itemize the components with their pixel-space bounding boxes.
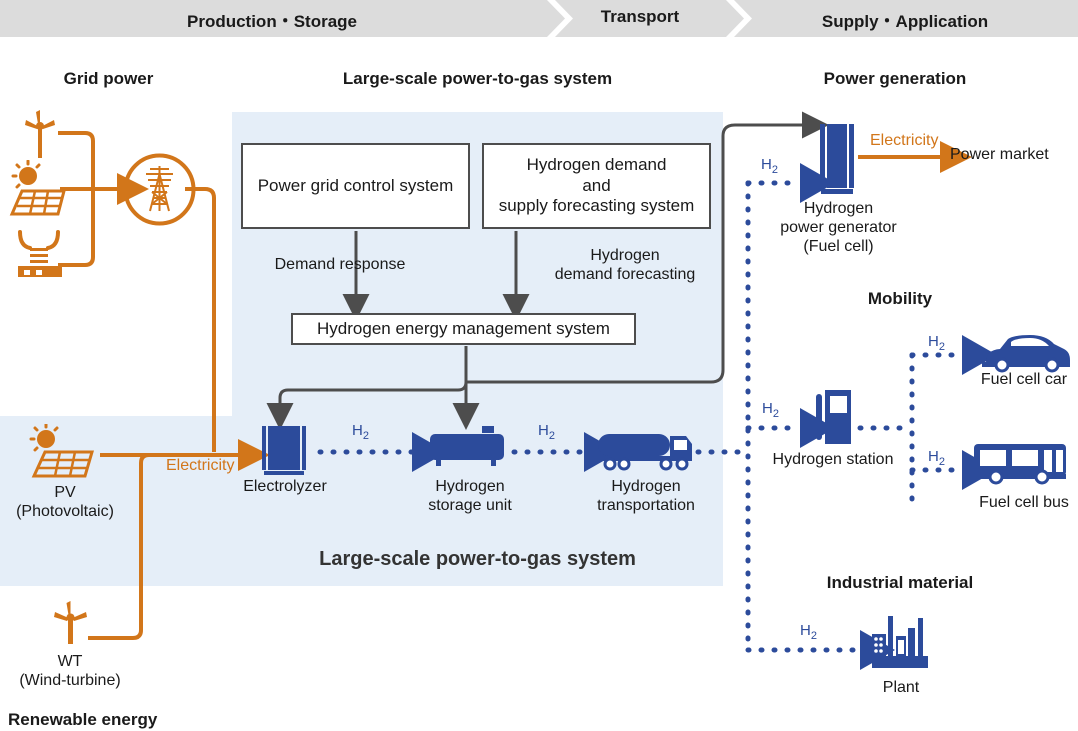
h2-label-plant: H2 — [800, 622, 817, 642]
panel-title-p2g: Large-scale power-to-gas system — [232, 548, 723, 571]
caption-electrolyzer: Electrolyzer — [215, 478, 355, 497]
edge-label-electricity-right: Electricity — [870, 132, 938, 150]
caption-wt-line-2: (Wind-turbine) — [0, 672, 140, 691]
caption-pv-line-2: (Photovoltaic) — [0, 503, 130, 522]
phase-bar: Production・Storage Transport Supply・Appl… — [0, 0, 1078, 37]
phase-label-supply-application: Supply・Application — [790, 7, 1020, 32]
wind-turbine-icon — [16, 108, 64, 165]
caption-wt: WT (Wind-turbine) — [0, 653, 140, 691]
bus-icon — [972, 440, 1072, 493]
caption-wt-line-1: WT — [0, 653, 140, 672]
edge-label-hydrogen-demand-forecasting: Hydrogen demand forecasting — [525, 247, 725, 285]
fuel-dispenser-icon — [814, 388, 854, 453]
heading-grid-power: Grid power — [0, 69, 217, 89]
forecast-line-1: Hydrogen demand — [499, 155, 695, 175]
caption-fuel-cell-car: Fuel cell car — [970, 371, 1078, 390]
h2-label-car: H2 — [928, 333, 945, 353]
box-power-grid-control-label: Power grid control system — [258, 176, 454, 196]
heading-power-generation: Power generation — [780, 69, 1010, 89]
edge-label-demand-response: Demand response — [240, 256, 440, 275]
caption-hydrogen-power-generator: Hydrogen power generator (Fuel cell) — [766, 200, 911, 257]
edge-label-electricity-left: Electricity — [166, 457, 234, 475]
caption-hydrogen-storage-unit: Hydrogen storage unit — [400, 478, 540, 516]
electrolyzer-icon — [260, 424, 308, 483]
caption-fuel-cell-bus: Fuel cell bus — [970, 494, 1078, 513]
hdf-line-1: Hydrogen — [525, 247, 725, 266]
caption-pv: PV (Photovoltaic) — [0, 484, 130, 522]
h2-label-bus: H2 — [928, 448, 945, 468]
hems-label: Hydrogen energy management system — [317, 319, 610, 339]
h2-label-station: H2 — [762, 400, 779, 420]
storage-tank-icon — [428, 424, 510, 477]
tanker-truck-icon — [596, 426, 696, 479]
solar-panel-icon — [8, 160, 70, 225]
phase-label-transport: Transport — [540, 7, 740, 27]
solar-panel-icon-renewable — [28, 424, 98, 487]
plant-icon — [870, 612, 932, 675]
caption-pv-line-1: PV — [0, 484, 130, 503]
caption-fuelcell-line-2: power generator — [766, 219, 911, 238]
caption-storage-line-1: Hydrogen — [400, 478, 540, 497]
heading-p2g: Large-scale power-to-gas system — [232, 69, 723, 89]
wind-turbine-icon-renewable — [46, 600, 98, 651]
hdf-line-2: demand forecasting — [525, 266, 725, 285]
box-power-grid-control-system[interactable]: Power grid control system — [241, 143, 470, 229]
caption-transport-line-1: Hydrogen — [576, 478, 716, 497]
heading-renewable-energy: Renewable energy — [8, 710, 228, 730]
transmission-tower-icon — [122, 152, 197, 232]
caption-hydrogen-station: Hydrogen station — [748, 451, 918, 470]
phase-label-production-storage: Production・Storage — [122, 7, 422, 32]
fuel-cell-stack-icon — [818, 122, 856, 203]
caption-plant: Plant — [848, 679, 954, 698]
box-hydrogen-demand-supply-forecasting-system[interactable]: Hydrogen demand and supply forecasting s… — [482, 143, 711, 229]
forecast-line-3: supply forecasting system — [499, 196, 695, 216]
h2-label-electrolyzer-storage: H2 — [352, 422, 369, 442]
caption-power-market: Power market — [950, 146, 1078, 165]
forecast-line-2: and — [499, 176, 695, 196]
box-hydrogen-energy-management-system[interactable]: Hydrogen energy management system — [291, 313, 636, 345]
h2-label-storage-transport: H2 — [538, 422, 555, 442]
factory-icon — [14, 228, 66, 283]
caption-hydrogen-transportation: Hydrogen transportation — [576, 478, 716, 516]
heading-mobility: Mobility — [800, 289, 1000, 309]
h2-label-fuel-cell: H2 — [761, 156, 778, 176]
heading-industrial-material: Industrial material — [780, 573, 1020, 593]
caption-fuelcell-line-3: (Fuel cell) — [766, 238, 911, 257]
caption-storage-line-2: storage unit — [400, 497, 540, 516]
caption-transport-line-2: transportation — [576, 497, 716, 516]
caption-fuelcell-line-1: Hydrogen — [766, 200, 911, 219]
